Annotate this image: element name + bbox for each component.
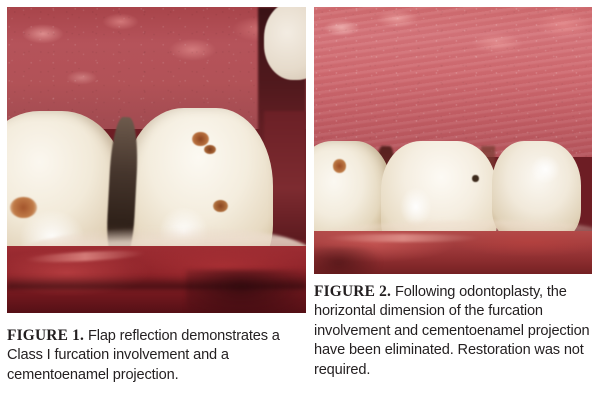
figure-1-label: FIGURE 1. (7, 327, 84, 344)
figure-1-photo (7, 7, 306, 313)
figure-2-label: FIGURE 2. (314, 283, 391, 300)
left-molar-stain (333, 159, 346, 172)
flap-specular-highlight (325, 234, 481, 242)
enamel-speck (472, 175, 478, 182)
vestibule-shadow (186, 270, 306, 313)
gingiva-stippling-texture (314, 7, 592, 157)
left-molar-stain (10, 197, 37, 218)
enamel-stain-a (192, 132, 208, 146)
vestibule-shadow (314, 247, 381, 274)
figure-2-photo (314, 7, 592, 274)
figure-2-caption: FIGURE 2. Following odontoplasty, the ho… (314, 282, 598, 380)
figure-1-caption: FIGURE 1. Flap reflection demonstrates a… (7, 326, 303, 385)
